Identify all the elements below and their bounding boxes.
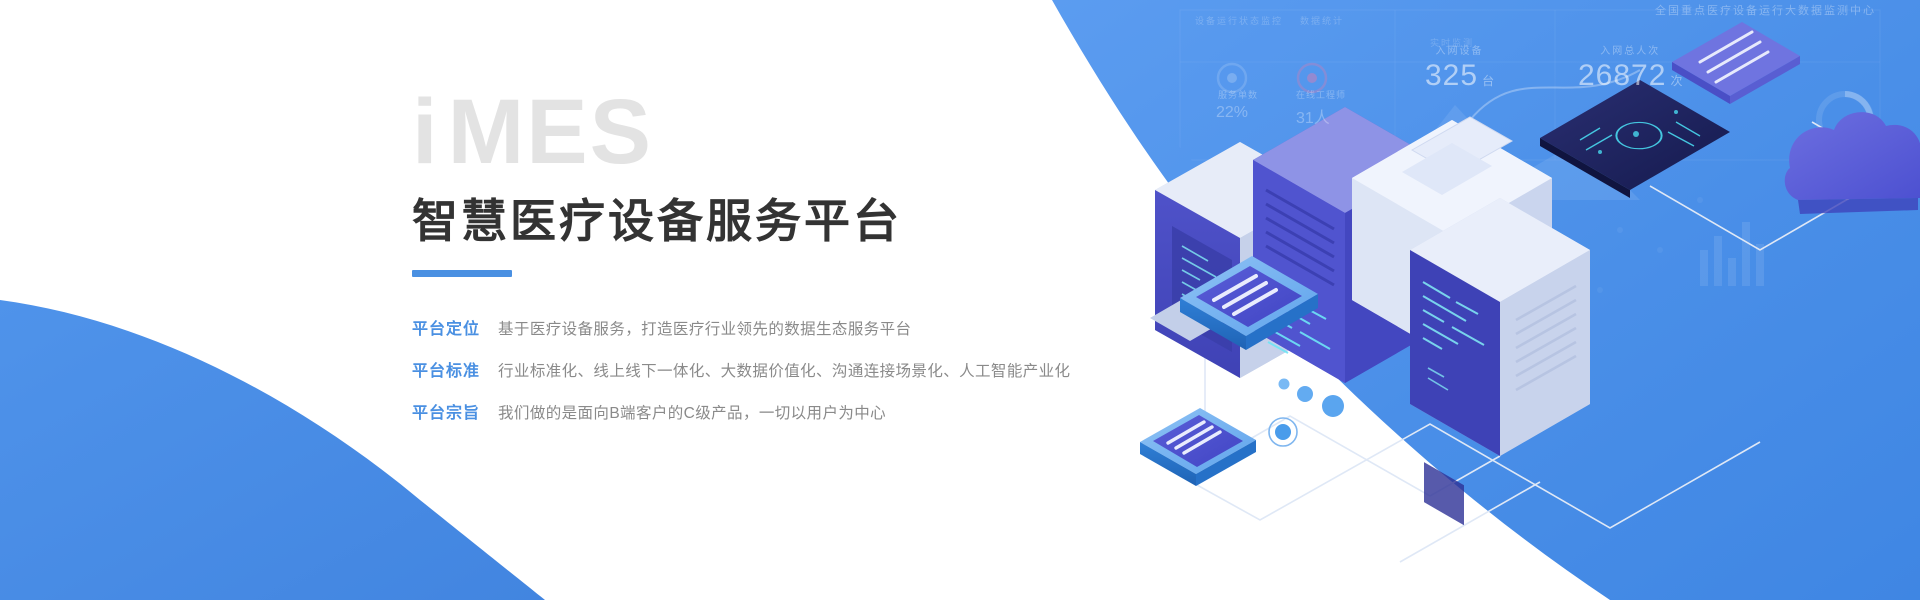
bubble-group bbox=[1279, 379, 1345, 418]
feature-row-positioning: 平台定位 基于医疗设备服务，打造医疗行业领先的数据生态服务平台 bbox=[412, 315, 1242, 339]
feature-text-positioning: 基于医疗设备服务，打造医疗行业领先的数据生态服务平台 bbox=[498, 317, 911, 339]
title-underline-rule bbox=[412, 270, 512, 277]
node-indicator bbox=[1269, 418, 1297, 446]
brand-logo: iMES bbox=[412, 86, 1242, 178]
feature-row-standard: 平台标准 行业标准化、线上线下一体化、大数据价值化、沟通连接场景化、人工智能产业… bbox=[412, 357, 1242, 381]
feature-row-purpose: 平台宗旨 我们做的是面向B端客户的C级产品，一切以用户为中心 bbox=[412, 399, 1242, 423]
feature-text-purpose: 我们做的是面向B端客户的C级产品，一切以用户为中心 bbox=[498, 401, 886, 423]
hero-banner: 全国重点医疗设备运行大数据监测中心 设备运行状态监控 数据统计 实时监测 入网设… bbox=[0, 0, 1920, 600]
feature-text-standard: 行业标准化、线上线下一体化、大数据价值化、沟通连接场景化、人工智能产业化 bbox=[498, 359, 1070, 381]
page-title: 智慧医疗设备服务平台 bbox=[412, 194, 1242, 248]
brand-logo-mes: MES bbox=[448, 81, 653, 183]
feature-label-standard: 平台标准 bbox=[412, 357, 480, 381]
feature-label-purpose: 平台宗旨 bbox=[412, 399, 480, 423]
hero-content: iMES 智慧医疗设备服务平台 平台定位 基于医疗设备服务，打造医疗行业领先的数… bbox=[412, 86, 1242, 423]
brand-logo-i: i bbox=[412, 81, 448, 183]
feature-label-positioning: 平台定位 bbox=[412, 315, 480, 339]
feature-list: 平台定位 基于医疗设备服务，打造医疗行业领先的数据生态服务平台 平台标准 行业标… bbox=[412, 315, 1242, 423]
